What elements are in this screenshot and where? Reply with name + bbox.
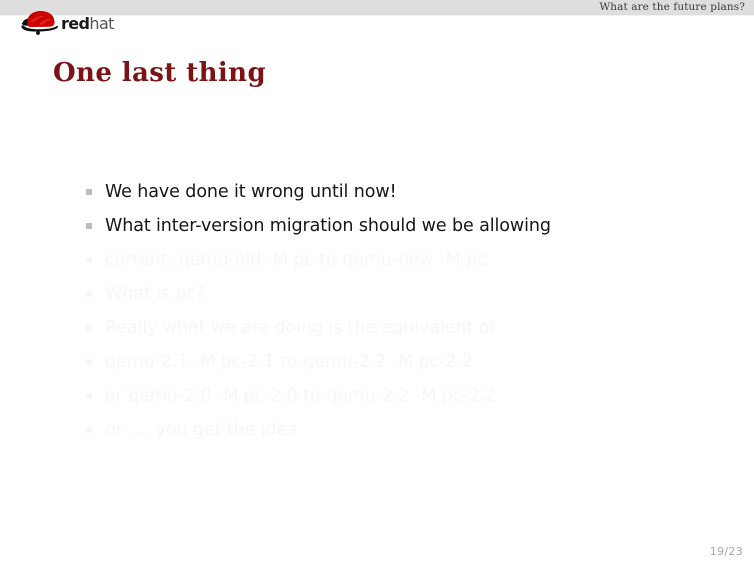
bullet-square-icon [86,223,92,229]
bullet-square-icon [86,359,92,365]
bullet-square-icon [86,291,92,297]
list-item-label: or .... you get the idea [105,413,298,447]
redhat-shadowman-icon [18,9,60,35]
list-item-label: qemu-2.1 -M pc-2.1 to qemu-2.2 -M pc-2.2 [105,345,473,379]
list-item: or .... you get the idea [86,413,706,447]
list-item-label: or qemu-2.0 -M pc-2.0 to qemu-2.2 -M pc-… [105,379,496,413]
bullet-square-icon [86,325,92,331]
list-item: Really what we are doing is the equivale… [86,311,706,345]
list-item-label: What inter-version migration should we b… [105,209,551,243]
wordmark-red: red [61,14,89,33]
presentation-slide: What are the future plans? redhat One la… [0,0,754,566]
section-title: What are the future plans? [599,0,745,15]
list-item-label: We have done it wrong until now! [105,175,396,209]
bullet-square-icon [86,189,92,195]
list-item: current: qemu-old -M pc to qemu-new -M p… [86,243,706,277]
list-item: What inter-version migration should we b… [86,209,706,243]
slide-title: One last thing [53,58,266,88]
redhat-wordmark: redhat [61,15,114,33]
bullet-square-icon [86,393,92,399]
redhat-logo: redhat [18,8,128,38]
list-item-label: What is pc? [105,277,205,311]
list-item: What is pc? [86,277,706,311]
list-item: We have done it wrong until now! [86,175,706,209]
list-item-label: current: qemu-old -M pc to qemu-new -M p… [105,243,487,277]
page-number: 19/23 [710,545,743,558]
list-item: or qemu-2.0 -M pc-2.0 to qemu-2.2 -M pc-… [86,379,706,413]
bullet-square-icon [86,427,92,433]
list-item-label: Really what we are doing is the equivale… [105,311,495,345]
bullet-square-icon [86,257,92,263]
bullet-list: We have done it wrong until now! What in… [86,175,706,447]
list-item: qemu-2.1 -M pc-2.1 to qemu-2.2 -M pc-2.2 [86,345,706,379]
wordmark-hat: hat [89,14,113,33]
